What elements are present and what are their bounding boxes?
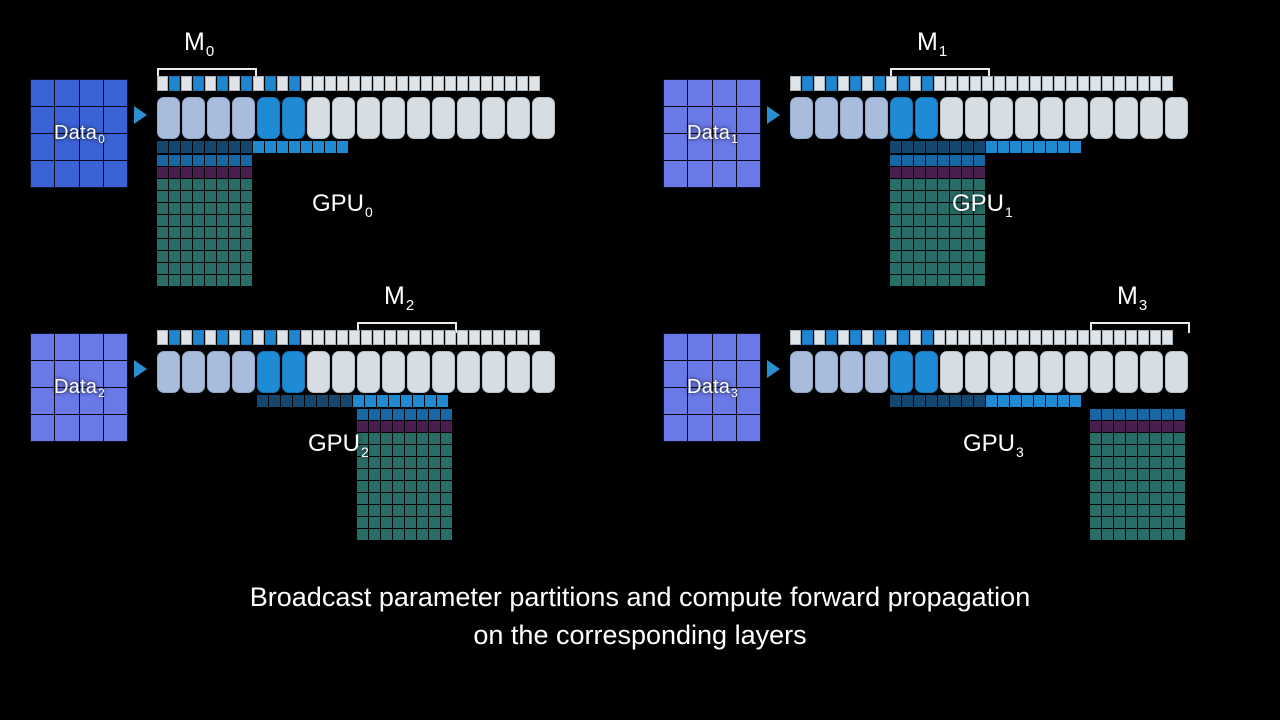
data-cell <box>688 80 711 106</box>
activation-cell <box>193 203 204 214</box>
param-square <box>289 330 300 345</box>
activation-cell <box>393 457 404 468</box>
param-square <box>421 76 432 91</box>
activation-cell <box>1102 505 1113 516</box>
activation-row <box>1090 493 1185 504</box>
param-square <box>361 76 372 91</box>
activation-cell <box>169 227 180 238</box>
param-square <box>814 76 825 91</box>
activation-cell <box>1126 493 1137 504</box>
activation-cell <box>369 421 380 432</box>
activation-cell <box>1114 457 1125 468</box>
param-square <box>1138 330 1149 345</box>
activation-row <box>1090 421 1185 432</box>
activation-row <box>890 263 985 274</box>
activation-cell <box>1174 445 1185 456</box>
broadcast-cell <box>926 395 937 407</box>
activation-cell <box>229 155 240 166</box>
param-square <box>469 330 480 345</box>
activation-cell <box>429 409 440 420</box>
activation-cell <box>157 167 168 178</box>
param-pill <box>282 97 305 139</box>
param-square <box>982 330 993 345</box>
activation-cell <box>217 275 228 286</box>
activation-cell <box>193 155 204 166</box>
param-square <box>157 76 168 91</box>
m-partition-label-1: M1 <box>917 28 946 57</box>
param-pill <box>532 97 555 139</box>
activation-cell <box>417 517 428 528</box>
broadcast-cell <box>293 395 304 407</box>
data-cell <box>104 415 127 441</box>
broadcast-cell <box>890 141 901 153</box>
broadcast-bar-3 <box>890 395 1081 407</box>
activation-cell <box>417 529 428 540</box>
activation-cell <box>902 167 913 178</box>
param-square <box>505 76 516 91</box>
activation-cell <box>229 263 240 274</box>
data-cell <box>104 161 127 187</box>
param-square <box>229 76 240 91</box>
broadcast-cell <box>962 141 973 153</box>
param-square <box>301 76 312 91</box>
activation-cell <box>381 517 392 528</box>
param-square <box>289 76 300 91</box>
param-square <box>994 330 1005 345</box>
param-square <box>361 330 372 345</box>
param-square <box>385 330 396 345</box>
param-square <box>958 76 969 91</box>
activation-matrix-2 <box>357 409 452 540</box>
activation-cell <box>381 493 392 504</box>
activation-cell <box>1114 505 1125 516</box>
param-square <box>910 76 921 91</box>
activation-cell <box>241 155 252 166</box>
activation-cell <box>405 517 416 528</box>
broadcast-cell <box>1010 395 1021 407</box>
activation-cell <box>405 481 416 492</box>
activation-cell <box>369 481 380 492</box>
activation-cell <box>393 493 404 504</box>
broadcast-cell <box>1058 395 1069 407</box>
activation-cell <box>417 421 428 432</box>
activation-cell <box>1102 469 1113 480</box>
activation-cell <box>1150 433 1161 444</box>
param-square <box>241 76 252 91</box>
activation-cell <box>357 469 368 480</box>
param-pill <box>482 351 505 393</box>
activation-cell <box>974 239 985 250</box>
activation-cell <box>962 275 973 286</box>
param-pill <box>282 351 305 393</box>
diagram-canvas: Data0 M0 GPU0 Data1 <box>0 0 1280 720</box>
activation-cell <box>1150 421 1161 432</box>
activation-cell <box>1090 457 1101 468</box>
activation-cell <box>1114 469 1125 480</box>
activation-cell <box>417 469 428 480</box>
param-square <box>1006 76 1017 91</box>
activation-cell <box>890 179 901 190</box>
activation-cell <box>950 263 961 274</box>
broadcast-cell <box>325 141 336 153</box>
data-cell <box>80 161 103 187</box>
broadcast-cell <box>1010 141 1021 153</box>
param-square <box>493 330 504 345</box>
activation-cell <box>369 517 380 528</box>
activation-cell <box>181 203 192 214</box>
activation-cell <box>193 179 204 190</box>
activation-cell <box>1102 445 1113 456</box>
broadcast-cell <box>341 395 352 407</box>
activation-row <box>157 203 252 214</box>
activation-matrix-1 <box>890 155 985 286</box>
arrow-icon <box>767 360 780 378</box>
activation-cell <box>938 263 949 274</box>
param-square <box>1054 330 1065 345</box>
broadcast-cell <box>974 141 985 153</box>
data-cell <box>713 415 736 441</box>
activation-cell <box>1150 517 1161 528</box>
arrow-icon <box>134 360 147 378</box>
param-square <box>217 76 228 91</box>
activation-cell <box>1162 517 1173 528</box>
activation-cell <box>1102 481 1113 492</box>
param-pill <box>507 351 530 393</box>
param-square <box>1054 76 1065 91</box>
activation-cell <box>429 433 440 444</box>
data-cell <box>31 388 54 414</box>
broadcast-cell <box>1070 141 1081 153</box>
activation-row <box>357 505 452 516</box>
activation-cell <box>441 457 452 468</box>
activation-cell <box>962 167 973 178</box>
data-cell <box>55 334 78 360</box>
data-cell <box>713 80 736 106</box>
activation-cell <box>1090 409 1101 420</box>
activation-cell <box>205 215 216 226</box>
activation-cell <box>393 421 404 432</box>
activation-cell <box>926 167 937 178</box>
activation-cell <box>417 493 428 504</box>
param-square <box>181 330 192 345</box>
data-cell <box>80 334 103 360</box>
data-cell <box>664 361 687 387</box>
activation-cell <box>890 251 901 262</box>
param-pill-row-2 <box>157 351 555 393</box>
data-cell <box>737 134 760 160</box>
activation-cell <box>393 481 404 492</box>
activation-cell <box>902 239 913 250</box>
param-pill <box>815 97 838 139</box>
m-partition-label-0: M0 <box>184 28 213 57</box>
param-square <box>886 76 897 91</box>
param-square <box>898 330 909 345</box>
activation-cell <box>938 215 949 226</box>
activation-cell <box>1102 421 1113 432</box>
broadcast-cell <box>1022 395 1033 407</box>
activation-cell <box>1090 469 1101 480</box>
activation-row <box>890 239 985 250</box>
data-cell <box>688 334 711 360</box>
param-square <box>922 76 933 91</box>
activation-cell <box>217 203 228 214</box>
param-pill <box>865 97 888 139</box>
activation-cell <box>1102 433 1113 444</box>
param-pill <box>990 97 1013 139</box>
param-square <box>862 330 873 345</box>
activation-cell <box>393 517 404 528</box>
activation-cell <box>181 275 192 286</box>
activation-cell <box>205 203 216 214</box>
activation-cell <box>1090 517 1101 528</box>
m-partition-label-3: M3 <box>1117 282 1146 311</box>
activation-cell <box>1126 505 1137 516</box>
broadcast-cell <box>269 395 280 407</box>
activation-cell <box>938 191 949 202</box>
param-square <box>1042 76 1053 91</box>
data-cell <box>31 134 54 160</box>
param-square <box>481 330 492 345</box>
broadcast-cell <box>1034 395 1045 407</box>
activation-cell <box>241 191 252 202</box>
activation-cell <box>1162 493 1173 504</box>
param-pill <box>432 97 455 139</box>
activation-cell <box>217 155 228 166</box>
param-square <box>493 76 504 91</box>
param-pill <box>457 97 480 139</box>
activation-cell <box>241 167 252 178</box>
activation-matrix-0 <box>157 155 252 286</box>
activation-cell <box>890 203 901 214</box>
activation-cell <box>241 275 252 286</box>
param-pill <box>865 351 888 393</box>
param-square <box>193 330 204 345</box>
activation-cell <box>1150 493 1161 504</box>
param-square <box>337 330 348 345</box>
activation-row <box>157 239 252 250</box>
activation-cell <box>369 469 380 480</box>
activation-cell <box>381 457 392 468</box>
activation-cell <box>914 203 925 214</box>
activation-cell <box>217 251 228 262</box>
activation-cell <box>381 433 392 444</box>
activation-row <box>157 191 252 202</box>
broadcast-cell <box>950 395 961 407</box>
activation-cell <box>357 517 368 528</box>
activation-cell <box>1174 457 1185 468</box>
broadcast-cell <box>998 395 1009 407</box>
param-strip-1 <box>790 76 1173 91</box>
data-cell <box>713 107 736 133</box>
activation-cell <box>169 251 180 262</box>
activation-cell <box>950 239 961 250</box>
activation-cell <box>181 155 192 166</box>
data-cell <box>664 134 687 160</box>
activation-row <box>157 251 252 262</box>
data-matrix-2: Data2 <box>30 333 128 442</box>
data-cell <box>664 334 687 360</box>
data-cell <box>104 334 127 360</box>
activation-cell <box>241 251 252 262</box>
data-cell <box>664 388 687 414</box>
activation-cell <box>926 239 937 250</box>
activation-cell <box>181 167 192 178</box>
activation-cell <box>926 203 937 214</box>
param-square <box>850 76 861 91</box>
param-square <box>1090 330 1101 345</box>
activation-cell <box>1150 505 1161 516</box>
data-cell <box>104 107 127 133</box>
m-partition-label-2: M2 <box>384 282 413 311</box>
activation-row <box>1090 529 1185 540</box>
broadcast-cell <box>938 395 949 407</box>
broadcast-cell <box>389 395 400 407</box>
activation-cell <box>181 191 192 202</box>
activation-cell <box>405 409 416 420</box>
activation-row <box>890 167 985 178</box>
activation-cell <box>1138 445 1149 456</box>
param-square <box>313 76 324 91</box>
broadcast-cell <box>986 141 997 153</box>
activation-cell <box>205 275 216 286</box>
activation-cell <box>369 445 380 456</box>
param-square <box>790 330 801 345</box>
activation-cell <box>357 409 368 420</box>
param-pill <box>790 351 813 393</box>
activation-cell <box>205 191 216 202</box>
activation-cell <box>169 155 180 166</box>
activation-cell <box>962 155 973 166</box>
param-pill <box>965 97 988 139</box>
activation-cell <box>441 445 452 456</box>
param-square <box>1102 330 1113 345</box>
activation-cell <box>1150 445 1161 456</box>
activation-cell <box>441 469 452 480</box>
param-square <box>1078 330 1089 345</box>
param-pill <box>382 97 405 139</box>
activation-cell <box>241 239 252 250</box>
activation-cell <box>369 529 380 540</box>
param-strip-2 <box>157 330 540 345</box>
activation-cell <box>950 227 961 238</box>
activation-cell <box>926 215 937 226</box>
broadcast-cell <box>205 141 216 153</box>
activation-cell <box>429 517 440 528</box>
activation-cell <box>381 409 392 420</box>
activation-cell <box>1162 481 1173 492</box>
param-square <box>970 76 981 91</box>
param-pill <box>1015 97 1038 139</box>
activation-cell <box>181 227 192 238</box>
param-pill <box>1015 351 1038 393</box>
broadcast-cell <box>914 141 925 153</box>
activation-cell <box>1114 529 1125 540</box>
param-square <box>982 76 993 91</box>
param-square <box>886 330 897 345</box>
activation-cell <box>429 493 440 504</box>
data-cell <box>31 80 54 106</box>
param-square <box>169 330 180 345</box>
broadcast-cell <box>437 395 448 407</box>
param-pill <box>332 351 355 393</box>
param-pill <box>182 351 205 393</box>
activation-cell <box>405 457 416 468</box>
param-square <box>313 330 324 345</box>
activation-cell <box>1162 529 1173 540</box>
activation-row <box>1090 505 1185 516</box>
activation-cell <box>441 409 452 420</box>
param-square <box>934 76 945 91</box>
param-square <box>1150 76 1161 91</box>
param-square <box>1018 76 1029 91</box>
activation-cell <box>1174 505 1185 516</box>
activation-cell <box>890 191 901 202</box>
gpu-label-1: GPU1 <box>952 190 1012 218</box>
broadcast-cell <box>914 395 925 407</box>
param-square <box>1114 330 1125 345</box>
activation-cell <box>926 179 937 190</box>
activation-cell <box>157 275 168 286</box>
param-pill <box>1165 97 1188 139</box>
param-square <box>445 330 456 345</box>
broadcast-cell <box>281 395 292 407</box>
param-square <box>181 76 192 91</box>
activation-cell <box>1090 421 1101 432</box>
broadcast-cell <box>277 141 288 153</box>
activation-cell <box>393 433 404 444</box>
param-pill <box>990 351 1013 393</box>
activation-cell <box>1126 421 1137 432</box>
param-square <box>241 330 252 345</box>
param-pill <box>332 97 355 139</box>
gpu-label-2: GPU2 <box>308 430 368 458</box>
activation-row <box>1090 433 1185 444</box>
activation-cell <box>914 263 925 274</box>
param-square <box>1162 330 1173 345</box>
activation-cell <box>914 215 925 226</box>
activation-cell <box>914 227 925 238</box>
activation-cell <box>1138 421 1149 432</box>
broadcast-cell <box>902 141 913 153</box>
activation-cell <box>1174 517 1185 528</box>
activation-cell <box>1114 481 1125 492</box>
activation-cell <box>169 275 180 286</box>
activation-cell <box>229 239 240 250</box>
param-square <box>838 330 849 345</box>
data-matrix-3: Data3 <box>663 333 761 442</box>
activation-cell <box>405 445 416 456</box>
activation-cell <box>1114 409 1125 420</box>
activation-cell <box>938 167 949 178</box>
broadcast-cell <box>1046 141 1057 153</box>
activation-cell <box>902 191 913 202</box>
param-pill <box>257 97 280 139</box>
activation-cell <box>1150 529 1161 540</box>
activation-cell <box>217 263 228 274</box>
activation-cell <box>169 239 180 250</box>
param-square <box>1138 76 1149 91</box>
param-square <box>169 76 180 91</box>
activation-row <box>157 275 252 286</box>
activation-cell <box>1114 493 1125 504</box>
gpu-label-0: GPU0 <box>312 190 372 218</box>
data-cell <box>55 161 78 187</box>
data-matrix-0: Data0 <box>30 79 128 188</box>
activation-cell <box>441 493 452 504</box>
activation-cell <box>890 263 901 274</box>
activation-cell <box>429 505 440 516</box>
data-cell <box>31 107 54 133</box>
